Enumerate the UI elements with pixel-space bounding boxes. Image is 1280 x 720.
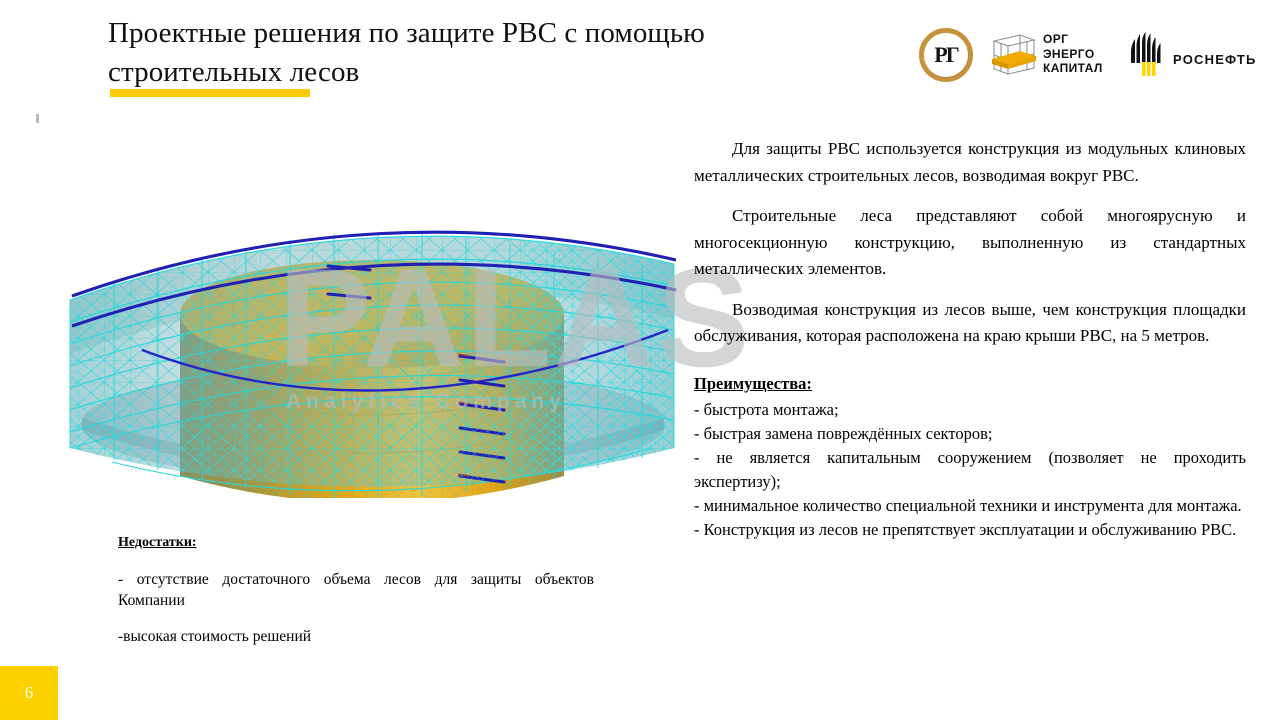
rosneft-flame-icon	[1127, 32, 1169, 78]
advantages-block: Преимущества: - быстрота монтажа; - быст…	[694, 372, 1246, 543]
page-number-badge: 6	[0, 666, 58, 720]
rg-monogram-logo: РГ	[915, 24, 981, 86]
advantage-item: - быстрота монтажа;	[694, 398, 1246, 422]
oek-line-2: ЭНЕРГО	[1043, 47, 1103, 62]
page-title: Проектные решения по защите РВС с помощь…	[108, 14, 708, 92]
drawback-item: -высокая стоимость решений	[118, 626, 594, 648]
org-energo-kapital-logo: ОРГ ЭНЕРГО КАПИТАЛ	[990, 24, 1145, 86]
tank-scaffolding-3d-model	[52, 118, 692, 498]
advantage-item: - быстрая замена повреждённых секторов;	[694, 422, 1246, 446]
advantage-item: - минимальное количество специальной тех…	[694, 494, 1246, 518]
advantage-item: - не является капитальным сооружением (п…	[694, 446, 1246, 494]
org-energo-kapital-wordmark: ОРГ ЭНЕРГО КАПИТАЛ	[1043, 32, 1103, 76]
rg-monogram-text: РГ	[924, 33, 968, 77]
title-underline-bar	[110, 89, 310, 97]
stray-mark	[36, 114, 39, 123]
advantage-item: - Конструкция из лесов не препятствует э…	[694, 518, 1246, 542]
drawbacks-block: Недостатки: - отсутствие достаточного об…	[118, 533, 594, 662]
rosneft-logo: РОСНЕФТЬ	[1127, 24, 1253, 86]
drawbacks-heading: Недостатки:	[118, 533, 594, 553]
description-paragraph: Для защиты РВС используется конструкция …	[694, 136, 1246, 189]
scaffold-cage	[52, 178, 692, 498]
model-svg	[52, 118, 692, 498]
description-column: Для защиты РВС используется конструкция …	[694, 136, 1246, 542]
drawback-item: - отсутствие достаточного объема лесов д…	[118, 569, 594, 612]
description-paragraph: Строительные леса представляют собой мно…	[694, 203, 1246, 283]
advantages-heading: Преимущества:	[694, 372, 1246, 396]
logo-bar: РГ ОРГ ЭНЕРГО КАПИТАЛ	[905, 24, 1255, 86]
oek-line-1: ОРГ	[1043, 32, 1103, 47]
scaffold-frame-icon	[990, 33, 1038, 77]
rosneft-wordmark: РОСНЕФТЬ	[1173, 52, 1257, 67]
description-paragraph: Возводимая конструкция из лесов выше, че…	[694, 297, 1246, 350]
oek-line-3: КАПИТАЛ	[1043, 61, 1103, 76]
